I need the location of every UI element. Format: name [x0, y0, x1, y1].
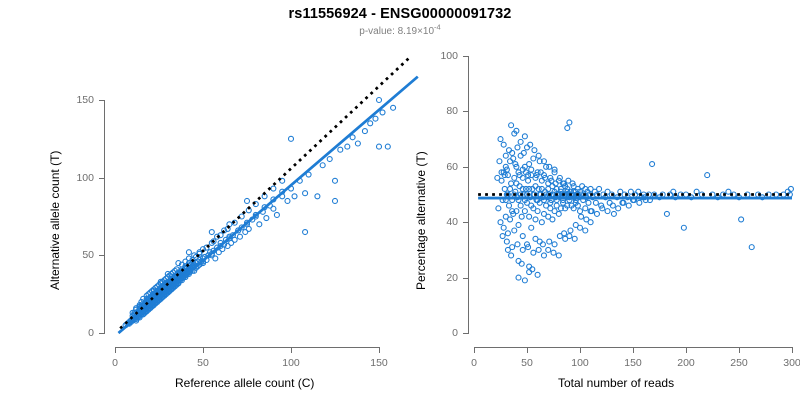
- data-point: [303, 191, 308, 196]
- data-point: [315, 194, 320, 199]
- data-point: [506, 203, 511, 208]
- data-point: [186, 250, 191, 255]
- data-point: [505, 231, 510, 236]
- data-point: [520, 175, 525, 180]
- data-point: [232, 237, 237, 242]
- data-point: [510, 150, 515, 155]
- data-point: [213, 256, 218, 261]
- data-point: [573, 222, 578, 227]
- data-point: [510, 245, 515, 250]
- data-point: [593, 200, 598, 205]
- data-point: [552, 242, 557, 247]
- data-point: [568, 228, 573, 233]
- data-point: [607, 200, 612, 205]
- data-point: [509, 181, 514, 186]
- data-point: [583, 206, 588, 211]
- data-point: [528, 142, 533, 147]
- data-point: [788, 186, 793, 191]
- data-point: [264, 216, 269, 221]
- data-point: [518, 203, 523, 208]
- data-point: [303, 230, 308, 235]
- data-point: [541, 253, 546, 258]
- data-point: [327, 157, 332, 162]
- data-point: [583, 228, 588, 233]
- data-point: [525, 145, 530, 150]
- data-point: [578, 209, 583, 214]
- data-point: [501, 225, 506, 230]
- data-point: [511, 156, 516, 161]
- data-point: [563, 236, 568, 241]
- data-point: [526, 178, 531, 183]
- data-point: [373, 116, 378, 121]
- data-point: [637, 200, 642, 205]
- data-point: [391, 105, 396, 110]
- data-point: [285, 198, 290, 203]
- data-point: [292, 194, 297, 199]
- data-point: [239, 214, 244, 219]
- reference-line-top: [120, 57, 410, 329]
- data-point: [518, 153, 523, 158]
- data-point: [705, 173, 710, 178]
- data-point: [535, 209, 540, 214]
- data-point: [529, 167, 534, 172]
- data-point: [320, 163, 325, 168]
- data-point: [517, 184, 522, 189]
- data-point: [626, 203, 631, 208]
- panel-percentage-alternative: 0 20 40 60 80 100 0 50 100 150 200 250 3…: [400, 0, 800, 400]
- data-point: [289, 136, 294, 141]
- data-point: [527, 186, 532, 191]
- data-point: [237, 234, 242, 239]
- data-point: [650, 162, 655, 167]
- data-point: [508, 186, 513, 191]
- data-point: [500, 234, 505, 239]
- data-point: [274, 212, 279, 217]
- data-point: [551, 250, 556, 255]
- data-point: [246, 226, 251, 231]
- data-point: [539, 178, 544, 183]
- data-point: [681, 225, 686, 230]
- data-point: [547, 239, 552, 244]
- data-point: [520, 247, 525, 252]
- data-point: [749, 245, 754, 250]
- data-point: [616, 206, 621, 211]
- data-point: [540, 242, 545, 247]
- data-point: [516, 222, 521, 227]
- data-point: [553, 181, 558, 186]
- data-point: [547, 164, 552, 169]
- data-point: [519, 261, 524, 266]
- regression-line-top: [119, 77, 418, 333]
- data-point: [532, 148, 537, 153]
- data-point: [333, 198, 338, 203]
- data-point: [338, 147, 343, 152]
- data-point: [611, 211, 616, 216]
- data-point: [520, 234, 525, 239]
- data-point: [333, 178, 338, 183]
- data-point: [385, 144, 390, 149]
- panel-allele-counts: 0 50 100 150 0 50 100 150 Reference alle…: [0, 0, 400, 400]
- data-point: [509, 123, 514, 128]
- data-point: [516, 275, 521, 280]
- right-plot-canvas: [400, 0, 800, 400]
- data-point: [518, 139, 523, 144]
- data-point: [533, 217, 538, 222]
- data-point: [605, 209, 610, 214]
- data-point: [684, 192, 689, 197]
- data-point: [539, 186, 544, 191]
- data-point: [584, 217, 589, 222]
- data-point: [498, 137, 503, 142]
- data-point: [516, 258, 521, 263]
- data-point: [550, 217, 555, 222]
- data-point: [502, 186, 507, 191]
- data-point: [514, 181, 519, 186]
- data-point: [586, 200, 591, 205]
- data-point: [512, 175, 517, 180]
- data-point: [519, 214, 524, 219]
- data-point: [530, 267, 535, 272]
- data-point: [499, 178, 504, 183]
- data-point: [533, 184, 538, 189]
- data-point-group: [495, 120, 794, 283]
- data-point: [594, 211, 599, 216]
- data-point: [368, 121, 373, 126]
- data-point: [271, 206, 276, 211]
- data-point: [610, 203, 615, 208]
- data-point: [539, 220, 544, 225]
- data-point: [579, 214, 584, 219]
- data-point: [557, 234, 562, 239]
- data-point: [527, 270, 532, 275]
- data-point: [522, 209, 527, 214]
- data-point: [521, 150, 526, 155]
- data-point: [497, 159, 502, 164]
- data-point: [501, 142, 506, 147]
- data-point: [257, 222, 262, 227]
- data-point: [506, 148, 511, 153]
- data-point: [508, 159, 513, 164]
- left-plot-canvas: [0, 0, 400, 400]
- data-point: [556, 253, 561, 258]
- data-point: [380, 110, 385, 115]
- data-point: [527, 162, 532, 167]
- data-point: [546, 247, 551, 252]
- data-point: [522, 134, 527, 139]
- data-point: [496, 206, 501, 211]
- data-point: [556, 211, 561, 216]
- data-point: [508, 217, 513, 222]
- data-point: [522, 278, 527, 283]
- data-point: [377, 98, 382, 103]
- data-point: [345, 144, 350, 149]
- scatter-plot-figure: rs11556924 - ENSG00000091732 p-value: 8.…: [0, 0, 800, 400]
- data-point: [546, 186, 551, 191]
- data-point: [362, 129, 367, 134]
- data-point: [520, 186, 525, 191]
- data-point: [504, 239, 509, 244]
- data-point: [537, 239, 542, 244]
- data-point: [538, 170, 543, 175]
- data-point: [529, 225, 534, 230]
- data-point: [531, 156, 536, 161]
- data-point: [572, 236, 577, 241]
- data-point: [209, 230, 214, 235]
- data-point: [531, 250, 536, 255]
- data-point: [739, 217, 744, 222]
- data-point: [377, 144, 382, 149]
- data-point: [567, 120, 572, 125]
- data-point: [580, 184, 585, 189]
- data-point: [527, 264, 532, 269]
- data-point: [597, 186, 602, 191]
- data-point: [726, 189, 731, 194]
- data-point: [664, 211, 669, 216]
- data-point: [536, 153, 541, 158]
- data-point: [515, 242, 520, 247]
- data-point: [536, 247, 541, 252]
- data-point: [355, 141, 360, 146]
- data-point: [535, 272, 540, 277]
- data-point: [527, 214, 532, 219]
- data-point: [509, 253, 514, 258]
- data-point: [565, 126, 570, 131]
- data-point: [498, 220, 503, 225]
- data-point: [245, 198, 250, 203]
- data-point: [515, 145, 520, 150]
- data-point: [512, 228, 517, 233]
- data-point: [503, 153, 508, 158]
- data-point: [271, 186, 276, 191]
